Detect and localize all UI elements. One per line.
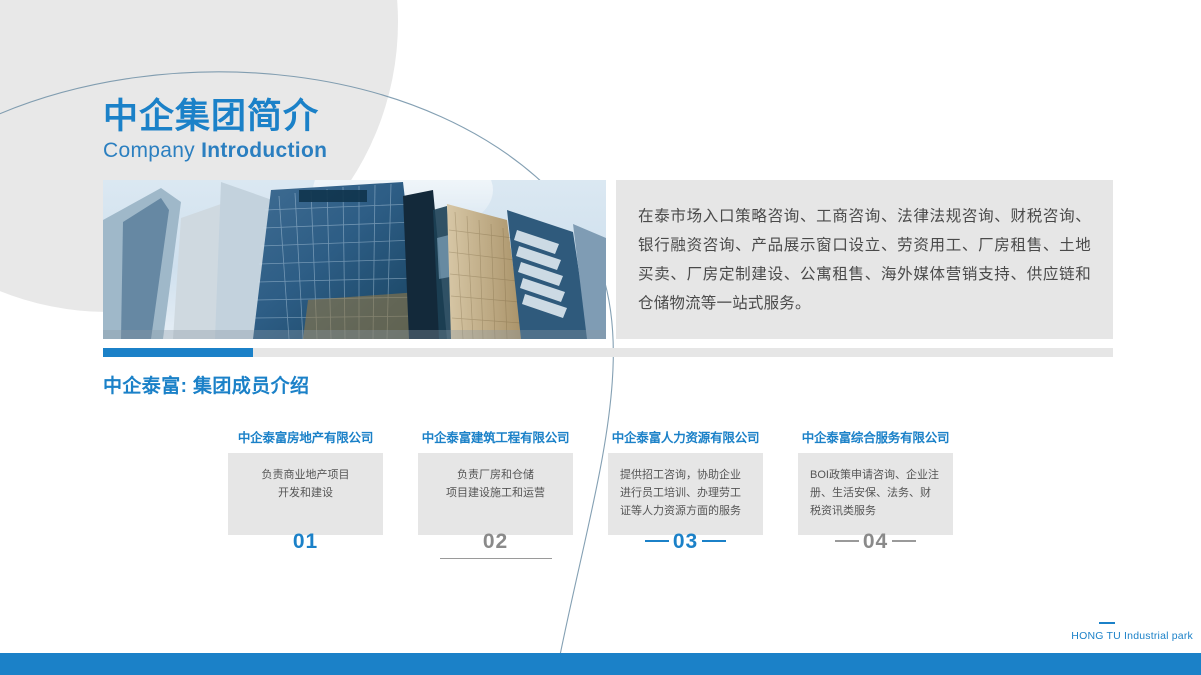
member-card[interactable]: 中企泰富综合服务有限公司 BOI政策申请咨询、企业注册、生活安保、法务、财税资讯…	[798, 427, 953, 535]
member-card-number: 02	[418, 530, 573, 554]
section-divider-accent	[103, 348, 253, 357]
description-text: 在泰市场入口策略咨询、工商咨询、法律法规咨询、财税咨询、银行融资咨询、产品展示窗…	[638, 202, 1091, 318]
member-card-number-text: 02	[483, 530, 508, 553]
member-card-number-text: 03	[673, 530, 698, 553]
footer-dash-icon	[1099, 622, 1115, 624]
footer-brand: HONG TU Industrial park	[1071, 630, 1193, 642]
member-card-number: 04	[798, 530, 953, 554]
member-card-title: 中企泰富房地产有限公司	[228, 427, 383, 446]
member-card-underline	[440, 558, 552, 560]
member-card-body: BOI政策申请咨询、企业注册、生活安保、法务、财税资讯类服务 04	[798, 453, 953, 535]
member-card[interactable]: 中企泰富建筑工程有限公司 负责厂房和仓储项目建设施工和运营 02	[418, 427, 573, 535]
member-card-description: BOI政策申请咨询、企业注册、生活安保、法务、财税资讯类服务	[808, 466, 943, 520]
number-rule-left	[645, 540, 669, 542]
section-heading: 中企泰富: 集团成员介绍	[103, 371, 309, 398]
member-card-description: 负责商业地产项目开发和建设	[238, 466, 373, 502]
member-card-number: 01	[228, 530, 383, 554]
member-card-description: 负责厂房和仓储项目建设施工和运营	[428, 466, 563, 502]
number-rule-right	[702, 540, 726, 542]
member-card-body: 负责厂房和仓储项目建设施工和运营 02	[418, 453, 573, 535]
page-title-en: Company Introduction	[103, 139, 327, 163]
member-card-title: 中企泰富人力资源有限公司	[608, 427, 763, 446]
slide-canvas: 中企集团简介 Company Introduction	[0, 0, 1201, 675]
hero-photo	[103, 180, 606, 339]
number-rule-right	[892, 540, 916, 542]
bottom-accent-bar	[0, 653, 1201, 675]
member-card[interactable]: 中企泰富人力资源有限公司 提供招工咨询，协助企业进行员工培训、办理劳工证等人力资…	[608, 427, 763, 535]
member-card-description: 提供招工咨询，协助企业进行员工培训、办理劳工证等人力资源方面的服务	[618, 466, 753, 520]
number-rule-left	[835, 540, 859, 542]
description-panel: 在泰市场入口策略咨询、工商咨询、法律法规咨询、财税咨询、银行融资咨询、产品展示窗…	[616, 180, 1113, 339]
member-card-number: 03	[608, 530, 763, 554]
member-card-number-text: 01	[293, 530, 318, 553]
member-card-body: 负责商业地产项目开发和建设 01	[228, 453, 383, 535]
page-title-cn: 中企集团简介	[103, 97, 327, 137]
member-card[interactable]: 中企泰富房地产有限公司 负责商业地产项目开发和建设 01	[228, 427, 383, 535]
skyscraper-illustration	[103, 180, 606, 339]
member-card-list: 中企泰富房地产有限公司 负责商业地产项目开发和建设 01 中企泰富建筑工程有限公…	[228, 427, 973, 535]
section-divider	[103, 348, 1113, 357]
member-card-title: 中企泰富建筑工程有限公司	[418, 427, 573, 446]
member-card-body: 提供招工咨询，协助企业进行员工培训、办理劳工证等人力资源方面的服务 03	[608, 453, 763, 535]
title-block: 中企集团简介 Company Introduction	[103, 97, 327, 163]
member-card-title: 中企泰富综合服务有限公司	[798, 427, 953, 446]
page-title-en-bold: Introduction	[201, 139, 327, 162]
page-title-en-light: Company	[103, 139, 201, 162]
member-card-number-text: 04	[863, 530, 888, 553]
